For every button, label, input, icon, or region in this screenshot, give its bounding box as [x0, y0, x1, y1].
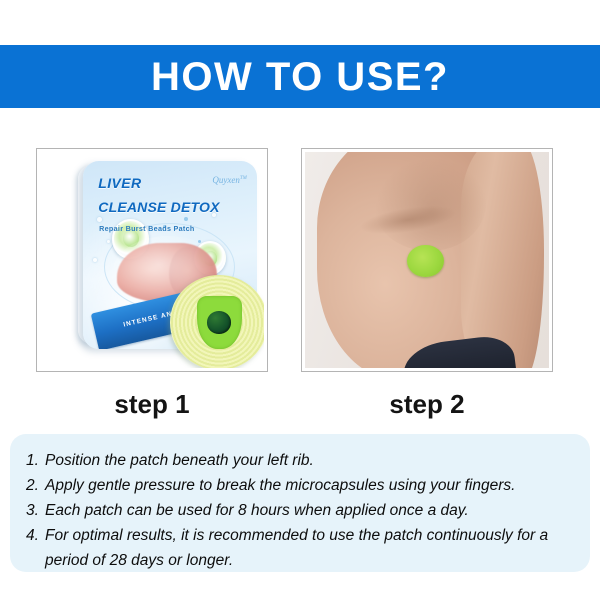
instruction-text: Position the patch beneath your left rib…	[45, 448, 574, 473]
instruction-text: For optimal results, it is recommended t…	[45, 523, 574, 573]
bubble-decor-icon	[184, 217, 188, 221]
body-scene	[305, 152, 549, 368]
bubble-decor-icon	[107, 240, 110, 243]
instruction-item: 1. Position the patch beneath your left …	[26, 448, 574, 473]
bubble-decor-icon	[93, 258, 97, 262]
instruction-item: 2. Apply gentle pressure to break the mi…	[26, 473, 574, 498]
step-2-label: step 2	[301, 389, 553, 420]
step-1-column: LIVER CLEANSE DETOX Repair Burst Beads P…	[36, 148, 268, 420]
step-1-label: step 1	[36, 389, 268, 420]
instruction-item: 3. Each patch can be used for 8 hours wh…	[26, 498, 574, 523]
package-title-line1: LIVER	[98, 176, 141, 190]
instructions-panel: 1. Position the patch beneath your left …	[10, 434, 590, 572]
step-2-image-frame	[301, 148, 553, 372]
product-patch-graphic	[170, 275, 264, 368]
instructions-list: 1. Position the patch beneath your left …	[26, 448, 574, 574]
patch-shield-icon	[197, 296, 242, 349]
step-2-column: step 2	[301, 148, 553, 420]
page-title: HOW TO USE?	[151, 57, 449, 97]
step-1-image-frame: LIVER CLEANSE DETOX Repair Burst Beads P…	[36, 148, 268, 372]
applied-patch-icon	[407, 245, 444, 277]
instruction-number: 4.	[26, 523, 45, 548]
instruction-number: 2.	[26, 473, 45, 498]
instruction-number: 1.	[26, 448, 45, 473]
instruction-text: Each patch can be used for 8 hours when …	[45, 498, 574, 523]
package-subtitle: Repair Burst Beads Patch	[99, 225, 194, 232]
instruction-number: 3.	[26, 498, 45, 523]
bubble-decor-icon	[97, 217, 102, 222]
steps-row: LIVER CLEANSE DETOX Repair Burst Beads P…	[0, 148, 600, 418]
header-banner: HOW TO USE?	[0, 45, 600, 108]
package-brand-name: QuyxenTM	[212, 176, 246, 185]
instruction-text: Apply gentle pressure to break the micro…	[45, 473, 574, 498]
torso-shading	[373, 156, 485, 251]
brand-text: Quyxen	[212, 175, 239, 185]
patch-bead-icon	[207, 311, 231, 333]
product-package-photo: LIVER CLEANSE DETOX Repair Burst Beads P…	[40, 152, 264, 368]
trademark-icon: TM	[240, 176, 247, 181]
package-title-line2: CLEANSE DETOX	[98, 200, 219, 214]
patch-applied-on-body-photo	[305, 152, 549, 368]
package-scene: LIVER CLEANSE DETOX Repair Burst Beads P…	[40, 152, 264, 368]
instruction-item: 4. For optimal results, it is recommende…	[26, 523, 574, 573]
